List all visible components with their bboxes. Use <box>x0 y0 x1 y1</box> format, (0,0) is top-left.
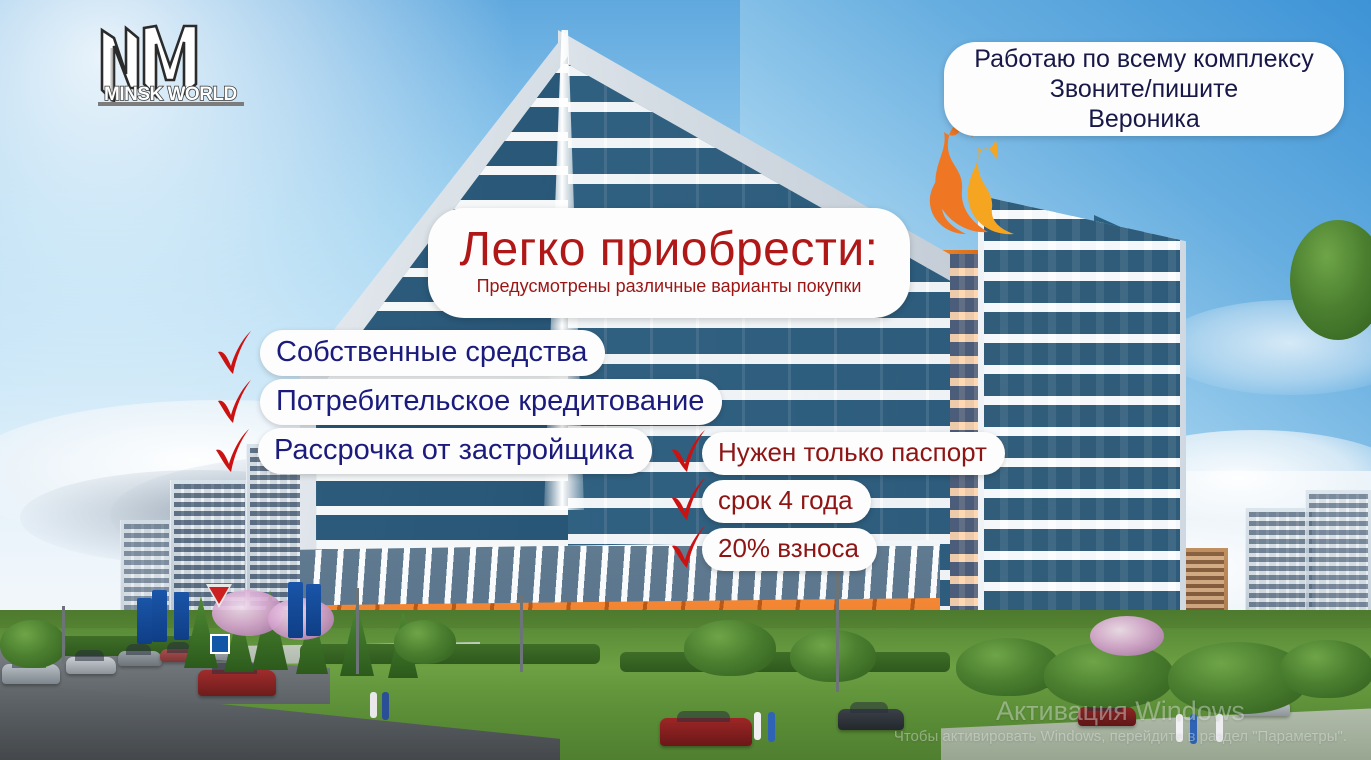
pedestrian <box>382 692 389 720</box>
check-icon <box>214 330 254 376</box>
lamp-post <box>356 588 359 674</box>
street-banner <box>288 582 303 638</box>
list-item-label: Нужен только паспорт <box>702 432 1005 475</box>
page-title: Легко приобрести: <box>460 223 879 277</box>
pedestrian <box>768 712 775 742</box>
contact-line-3: Вероника <box>1088 104 1200 134</box>
list-item[interactable]: Собственные средства <box>214 330 605 376</box>
list-item-label: Потребительское кредитование <box>260 379 722 425</box>
tree <box>0 620 66 668</box>
check-icon <box>668 478 708 524</box>
tree <box>684 620 776 676</box>
pedestrian <box>1216 714 1223 742</box>
parked-car <box>1078 707 1136 726</box>
list-item-label: Собственные средства <box>260 330 605 376</box>
tree <box>394 620 456 664</box>
street-banner <box>137 598 152 644</box>
list-item-label: срок 4 года <box>702 480 871 523</box>
street-banner <box>306 584 321 636</box>
tree <box>956 638 1060 696</box>
contact-line-2: Звоните/пишите <box>1050 74 1238 104</box>
parked-car <box>66 657 116 674</box>
svg-text:MINSK WORLD: MINSK WORLD <box>104 84 237 105</box>
list-item-label: 20% взноса <box>702 528 877 571</box>
tree <box>1280 640 1371 698</box>
lamp-post <box>836 572 839 692</box>
parked-car <box>660 718 752 746</box>
street-banner <box>152 590 167 642</box>
list-item[interactable]: Нужен только паспорт <box>668 430 1005 476</box>
pedestrian <box>754 712 761 740</box>
pedestrian <box>1176 714 1183 742</box>
check-icon <box>214 379 254 425</box>
list-item[interactable]: Рассрочка от застройщика <box>212 428 652 474</box>
check-icon <box>668 430 708 476</box>
list-item[interactable]: Потребительское кредитование <box>214 379 722 425</box>
parked-car <box>198 670 276 696</box>
pedestrian-sign <box>210 634 230 654</box>
list-item[interactable]: срок 4 года <box>668 478 871 524</box>
lamp-post <box>62 606 65 664</box>
parked-car <box>838 709 904 730</box>
list-item[interactable]: 20% взноса <box>668 526 877 572</box>
poster-canvas: MINSK WORLD Работаю по всему комплексу З… <box>0 0 1371 760</box>
tree <box>790 630 876 682</box>
hedge <box>620 652 950 672</box>
logo-wordmark-icon: MINSK WORLD <box>98 84 244 106</box>
pedestrian <box>1190 714 1197 744</box>
blossom-tree <box>1090 616 1164 656</box>
pedestrian <box>370 692 377 718</box>
minsk-world-logo[interactable]: MINSK WORLD <box>92 18 252 118</box>
list-item-label: Рассрочка от застройщика <box>258 428 652 474</box>
headline-bubble: Легко приобрести: Предусмотрены различны… <box>428 208 910 318</box>
contact-line-1: Работаю по всему комплексу <box>974 44 1313 74</box>
check-icon <box>668 526 708 572</box>
street-banner <box>174 592 189 640</box>
contact-callout-bubble[interactable]: Работаю по всему комплексу Звоните/пишит… <box>944 42 1344 136</box>
check-icon <box>212 428 252 474</box>
lamp-post <box>520 596 523 672</box>
page-subtitle: Предусмотрены различные варианты покупки <box>477 275 862 297</box>
parked-car <box>118 651 162 666</box>
